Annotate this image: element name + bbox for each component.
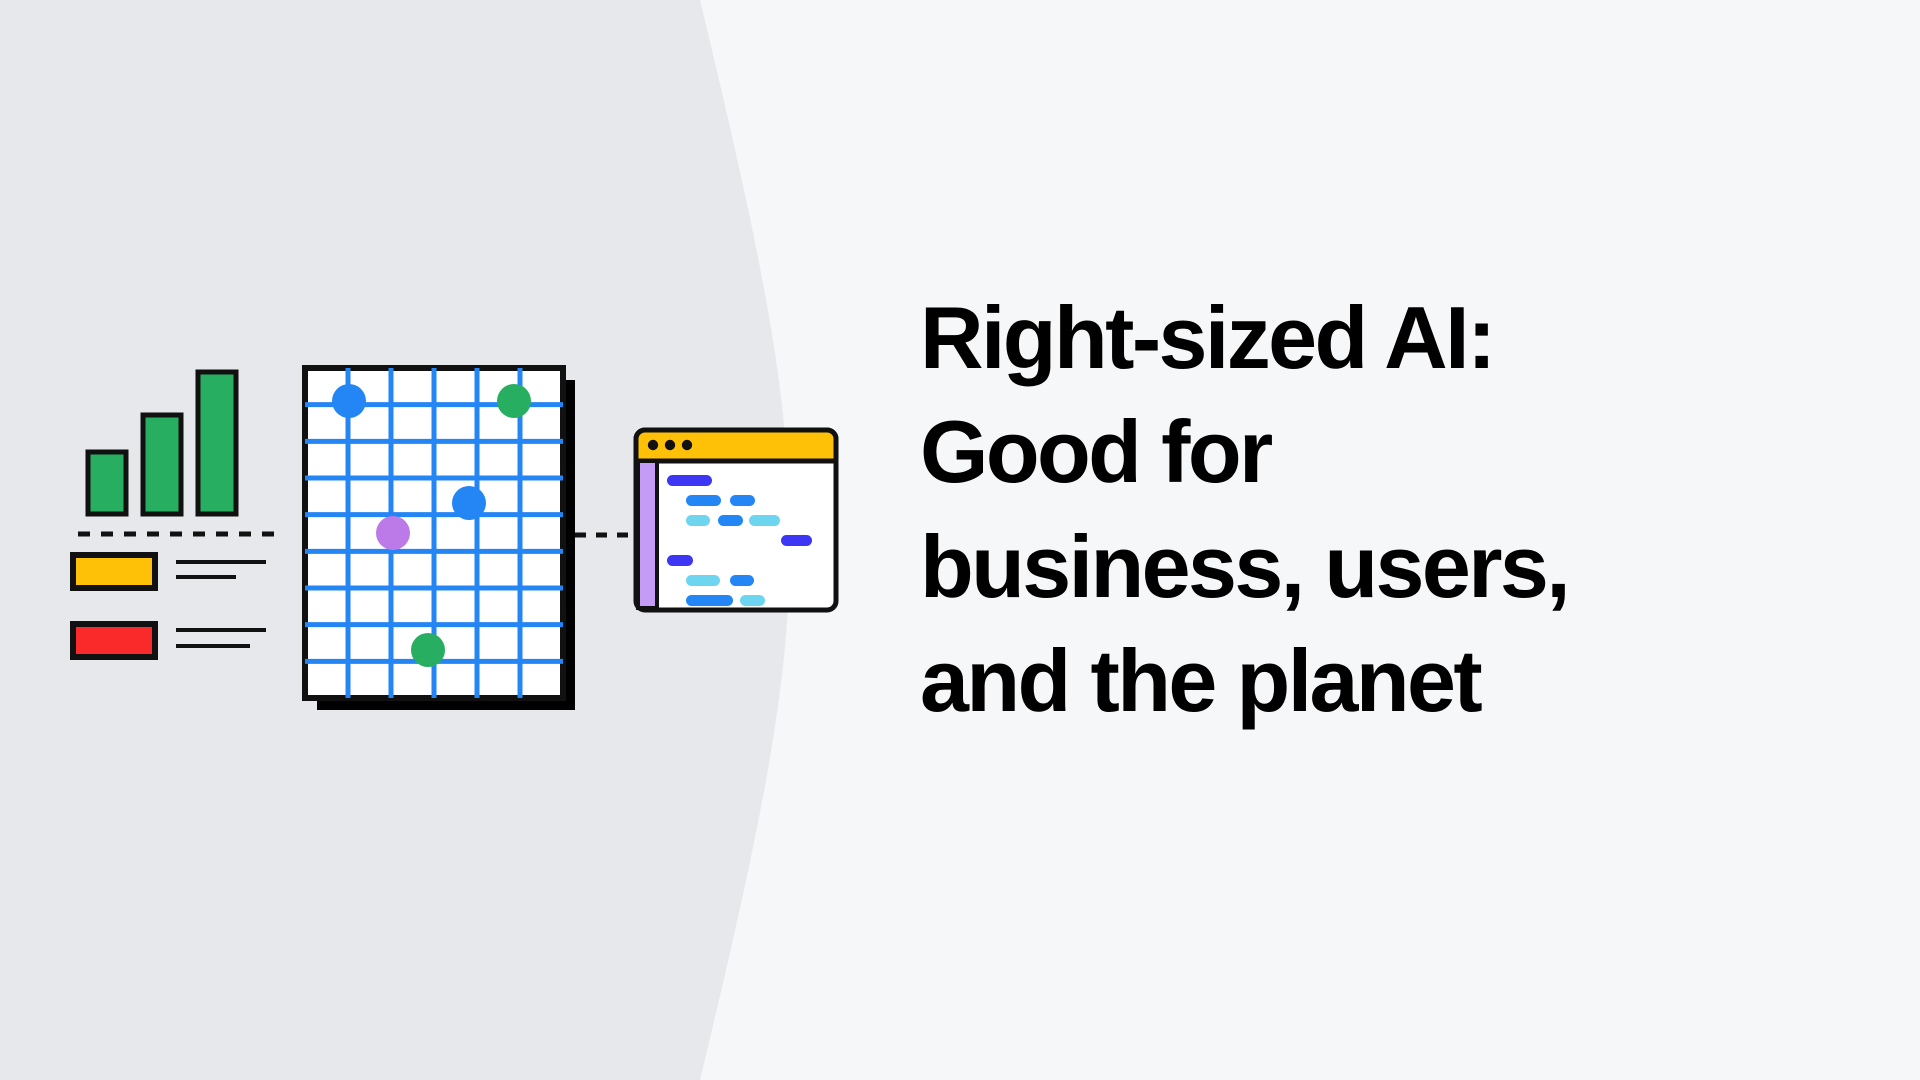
code-line-4-segment-1	[781, 535, 812, 546]
code-line-2-segment-2	[730, 495, 755, 506]
code-line-5-segment-1	[667, 555, 693, 566]
page-title-line-3: business, users,	[920, 510, 1820, 624]
code-line-2-segment-1	[686, 495, 721, 506]
code-line-7-segment-2	[740, 595, 765, 606]
page-title-line-2: Good for	[920, 395, 1820, 509]
page-title-line-1: Right-sized AI:	[920, 281, 1820, 395]
red-swatch	[73, 624, 155, 657]
bar-bar-1	[88, 452, 126, 514]
bar-bar-2	[143, 415, 181, 514]
window-dot-2[interactable]	[665, 440, 675, 450]
ai-efficiency-illustration	[0, 0, 900, 1080]
purple-sidebar	[638, 461, 657, 608]
yellow-swatch	[73, 555, 155, 588]
page-title-line-4: and the planet	[920, 624, 1820, 738]
page-title: Right-sized AI:Good forbusiness, users,a…	[920, 281, 1820, 739]
code-line-3-segment-2	[718, 515, 743, 526]
scatter-grid-chart	[305, 368, 575, 710]
code-line-6-segment-2	[730, 575, 754, 586]
legend-swatches	[73, 555, 266, 657]
point-purple-1	[376, 516, 410, 550]
code-line-3-segment-3	[749, 515, 780, 526]
point-blue-1	[332, 384, 366, 418]
window-dot-3[interactable]	[682, 440, 692, 450]
green-bar-chart	[88, 372, 236, 514]
window-dot-1[interactable]	[648, 440, 658, 450]
code-browser-mockup	[636, 430, 836, 610]
code-line-1-segment-1	[667, 475, 712, 486]
point-green-2	[411, 633, 445, 667]
point-green-1	[497, 384, 531, 418]
code-line-6-segment-1	[686, 575, 720, 586]
bar-bar-3	[198, 372, 236, 514]
point-blue-2	[452, 486, 486, 520]
hero-banner: Right-sized AI:Good forbusiness, users,a…	[0, 0, 1920, 1080]
code-line-3-segment-1	[686, 515, 710, 526]
code-line-7-segment-1	[686, 595, 733, 606]
